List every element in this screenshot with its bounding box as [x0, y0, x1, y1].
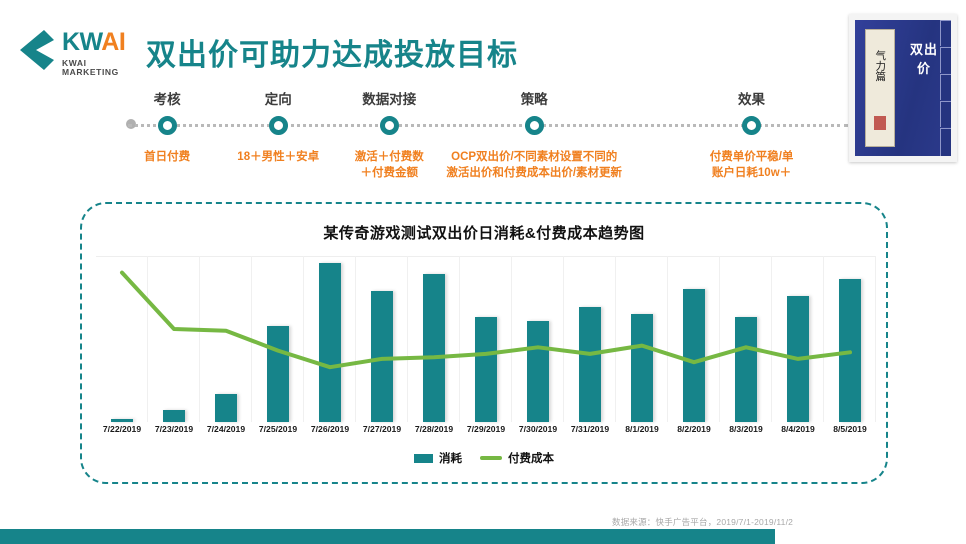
chart-title: 某传奇游戏测试双出价日消耗&付费成本趋势图 [82, 222, 886, 243]
bar-7/22/2019[interactable] [111, 419, 133, 422]
timeline-node-5[interactable]: 效果付费单价平稳/单账户日耗10w＋ [657, 88, 847, 135]
logo-word-kw: KW [62, 28, 101, 56]
timeline: 考核首日付费定向18＋男性＋安卓数据对接激活＋付费数＋付费金额策略OCP双出价/… [0, 88, 966, 198]
legend-label-consumption: 消耗 [439, 450, 462, 466]
x-axis-tick-7/30/2019: 7/30/2019 [512, 424, 564, 434]
bar-slot [356, 256, 408, 422]
timeline-stage-label: 策略 [439, 88, 629, 108]
book-spine-segment [940, 128, 951, 156]
x-axis-tick-7/29/2019: 7/29/2019 [460, 424, 512, 434]
footer-accent-bar [0, 529, 775, 544]
book-cover-title: 双出价 [905, 42, 943, 80]
bar-slot [304, 256, 356, 422]
x-axis-tick-7/25/2019: 7/25/2019 [252, 424, 304, 434]
timeline-ring-icon[interactable] [525, 116, 544, 135]
timeline-ring-icon[interactable] [380, 116, 399, 135]
x-axis-tick-7/26/2019: 7/26/2019 [304, 424, 356, 434]
chart-plot-area [96, 256, 876, 422]
x-axis-tick-7/28/2019: 7/28/2019 [408, 424, 460, 434]
x-axis-tick-8/4/2019: 8/4/2019 [772, 424, 824, 434]
bar-8/5/2019[interactable] [839, 279, 861, 422]
bar-slot [252, 256, 304, 422]
bar-7/25/2019[interactable] [267, 326, 289, 422]
bar-slot [200, 256, 252, 422]
bar-slot [564, 256, 616, 422]
logo-text: KWAI KWAI MARKETING [62, 30, 144, 76]
bar-slot [720, 256, 772, 422]
book-label: 气力篇 [865, 29, 895, 147]
bar-8/2/2019[interactable] [683, 289, 705, 422]
x-axis-tick-7/23/2019: 7/23/2019 [148, 424, 200, 434]
timeline-ring-icon[interactable] [158, 116, 177, 135]
bar-series-消耗 [96, 256, 876, 422]
x-axis-tick-8/2/2019: 8/2/2019 [668, 424, 720, 434]
timeline-ring-icon[interactable] [269, 116, 288, 135]
logo-word-ai: AI [101, 28, 125, 56]
timeline-description: OCP双出价/不同素材设置不同的激活出价和付费成本出价/素材更新 [419, 150, 649, 181]
bar-7/24/2019[interactable] [215, 394, 237, 422]
x-axis-tick-7/31/2019: 7/31/2019 [564, 424, 616, 434]
kwai-chevron-icon [14, 28, 54, 72]
x-axis-labels: 7/22/20197/23/20197/24/20197/25/20197/26… [96, 424, 876, 434]
bar-7/29/2019[interactable] [475, 317, 497, 422]
bar-8/3/2019[interactable] [735, 317, 757, 422]
bar-slot [148, 256, 200, 422]
chart-card: 某传奇游戏测试双出价日消耗&付费成本趋势图 7/22/20197/23/2019… [80, 202, 888, 484]
bar-slot [772, 256, 824, 422]
data-source-note: 数据来源：快手广告平台，2019/7/1-2019/11/2 [612, 516, 793, 528]
bar-7/23/2019[interactable] [163, 410, 185, 422]
timeline-description: 首日付费 [144, 150, 190, 166]
bar-8/1/2019[interactable] [631, 314, 653, 422]
timeline-description: 激活＋付费数＋付费金额 [355, 150, 424, 181]
timeline-stage-label: 效果 [657, 88, 847, 108]
bar-slot [512, 256, 564, 422]
bar-slot [668, 256, 720, 422]
x-axis-tick-8/5/2019: 8/5/2019 [824, 424, 876, 434]
bar-8/4/2019[interactable] [787, 296, 809, 422]
book-label-text: 气力篇 [874, 50, 886, 82]
slide-root: KWAI KWAI MARKETING 双出价可助力达成投放目标 考核首日付费定… [0, 0, 966, 544]
x-axis-tick-7/22/2019: 7/22/2019 [96, 424, 148, 434]
x-axis-tick-7/27/2019: 7/27/2019 [356, 424, 408, 434]
logo-subtitle: KWAI MARKETING [62, 59, 144, 76]
timeline-description: 18＋男性＋安卓 [237, 150, 319, 166]
bar-slot [460, 256, 512, 422]
legend-line-swatch-icon [480, 456, 502, 460]
bar-7/28/2019[interactable] [423, 274, 445, 422]
x-axis-tick-7/24/2019: 7/24/2019 [200, 424, 252, 434]
bar-7/26/2019[interactable] [319, 263, 341, 422]
timeline-description: 付费单价平稳/单账户日耗10w＋ [710, 150, 794, 181]
x-axis-tick-8/1/2019: 8/1/2019 [616, 424, 668, 434]
bar-7/31/2019[interactable] [579, 307, 601, 422]
bar-slot [616, 256, 668, 422]
bar-7/30/2019[interactable] [527, 321, 549, 422]
legend-item-payment-cost: 付费成本 [480, 450, 554, 466]
bar-7/27/2019[interactable] [371, 291, 393, 422]
book-spine-segment [940, 101, 951, 127]
bar-slot [408, 256, 460, 422]
bar-slot [824, 256, 876, 422]
timeline-node-4[interactable]: 策略OCP双出价/不同素材设置不同的激活出价和付费成本出价/素材更新 [439, 88, 629, 135]
logo-wordmark: KWAI [62, 30, 144, 55]
chart-legend: 消耗 付费成本 [82, 450, 886, 466]
book-cover: 气力篇 双出价 [855, 20, 951, 156]
legend-item-consumption: 消耗 [414, 450, 462, 466]
x-axis-tick-8/3/2019: 8/3/2019 [720, 424, 772, 434]
legend-label-payment-cost: 付费成本 [508, 450, 554, 466]
book-image: 气力篇 双出价 [849, 14, 957, 162]
legend-bar-swatch-icon [414, 454, 433, 463]
page-title: 双出价可助力达成投放目标 [146, 30, 518, 74]
kwai-logo: KWAI KWAI MARKETING [14, 24, 144, 76]
timeline-ring-icon[interactable] [742, 116, 761, 135]
seal-stamp-icon [874, 116, 886, 130]
bar-slot [96, 256, 148, 422]
